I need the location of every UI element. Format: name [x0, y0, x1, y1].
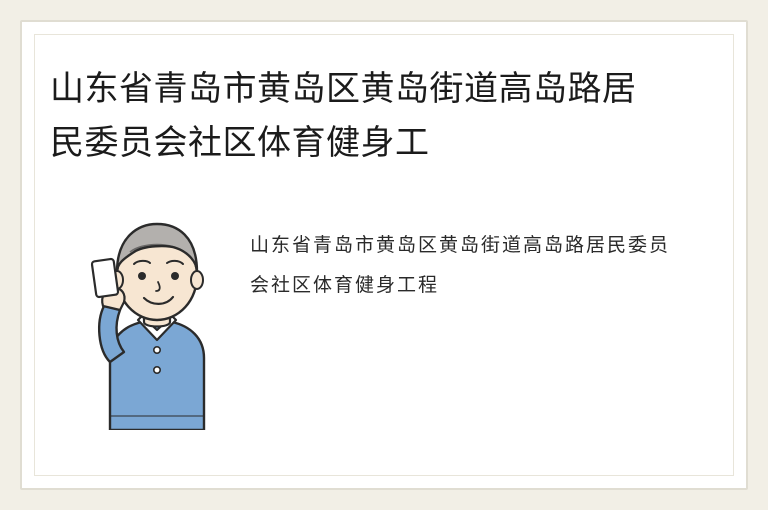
content-card: 山东省青岛市黄岛区黄岛街道高岛路居民委员会社区体育健身工	[20, 20, 748, 490]
page-title: 山东省青岛市黄岛区黄岛街道高岛路居民委员会社区体育健身工	[50, 62, 670, 170]
elderly-man-with-phone-illustration	[76, 190, 226, 430]
card-body-row: 山东省青岛市黄岛区黄岛街道高岛路居民委员会社区体育健身工程	[50, 190, 718, 430]
body-paragraph: 山东省青岛市黄岛区黄岛街道高岛路居民委员会社区体育健身工程	[250, 226, 680, 306]
